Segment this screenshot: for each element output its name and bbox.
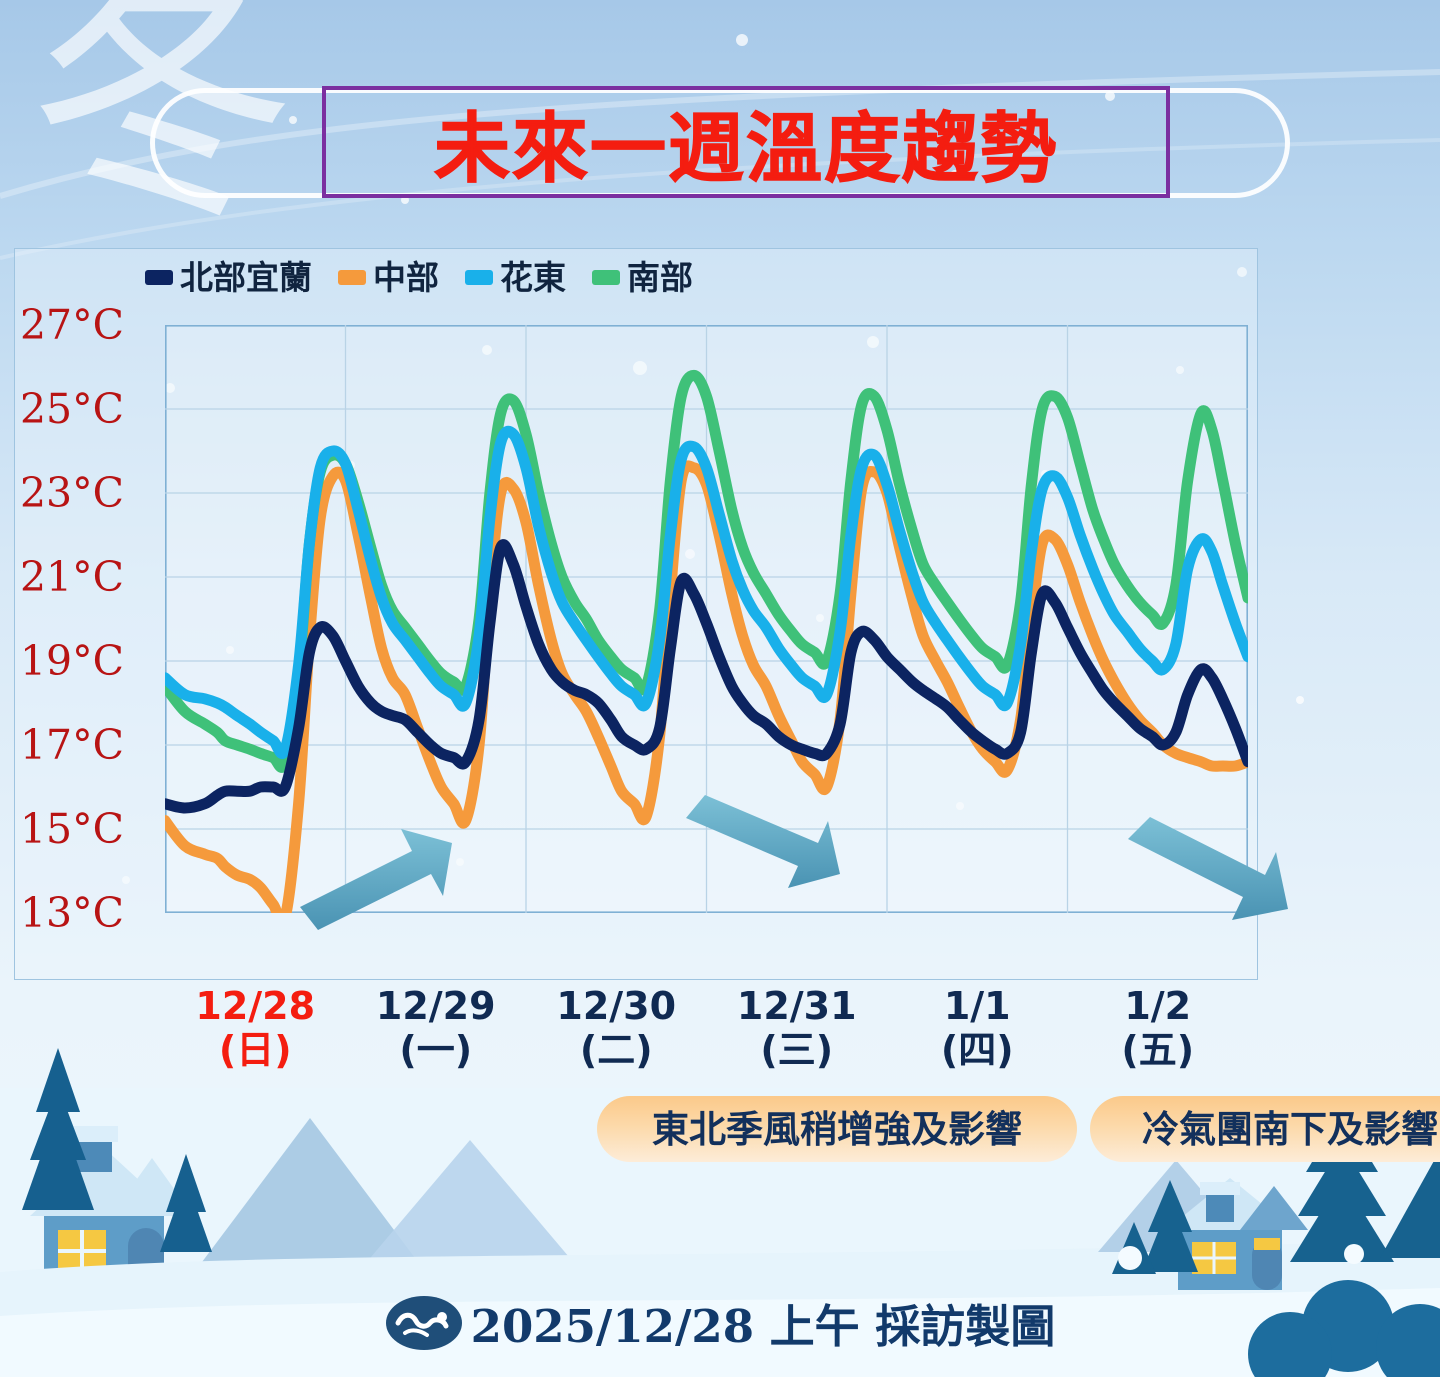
trend-arrow-warming [300,829,452,930]
wave-cloud-logo-icon [385,1295,463,1351]
x-axis-tick-3: 12/31(三) [702,984,892,1072]
x-axis-date-3: 12/31 [702,984,892,1028]
x-axis-date-2: 12/30 [521,984,711,1028]
x-axis-tick-1: 12/29(一) [341,984,531,1072]
x-axis-weekday-0: (日) [160,1028,350,1072]
x-axis-weekday-2: (二) [521,1028,711,1072]
trend-arrow-slight-cooling [686,795,840,888]
annotation-pill-1: 冷氣團南下及影響 [1090,1096,1440,1162]
footer: 2025/12/28 上午 採訪製圖 [0,1290,1440,1355]
trend-arrows-overlay [0,0,1440,1377]
footer-text: 2025/12/28 上午 採訪製圖 [471,1290,1056,1355]
x-axis-date-5: 1/2 [1063,984,1253,1028]
trend-arrow-cooling [1128,817,1288,920]
x-axis-weekday-4: (四) [882,1028,1072,1072]
x-axis-date-0: 12/28 [160,984,350,1028]
annotation-pill-text-0: 東北季風稍增強及影響 [652,1111,1022,1148]
x-axis-tick-4: 1/1(四) [882,984,1072,1072]
x-axis: 12/28(日)12/29(一)12/30(二)12/31(三)1/1(四)1/… [165,984,1248,1084]
x-axis-date-4: 1/1 [882,984,1072,1028]
annotation-pill-text-1: 冷氣團南下及影響 [1142,1111,1438,1148]
x-axis-weekday-3: (三) [702,1028,892,1072]
x-axis-tick-2: 12/30(二) [521,984,711,1072]
x-axis-date-1: 12/29 [341,984,531,1028]
annotation-pill-0: 東北季風稍增強及影響 [597,1096,1077,1162]
x-axis-tick-0: 12/28(日) [160,984,350,1072]
x-axis-tick-5: 1/2(五) [1063,984,1253,1072]
x-axis-weekday-1: (一) [341,1028,531,1072]
x-axis-weekday-5: (五) [1063,1028,1253,1072]
